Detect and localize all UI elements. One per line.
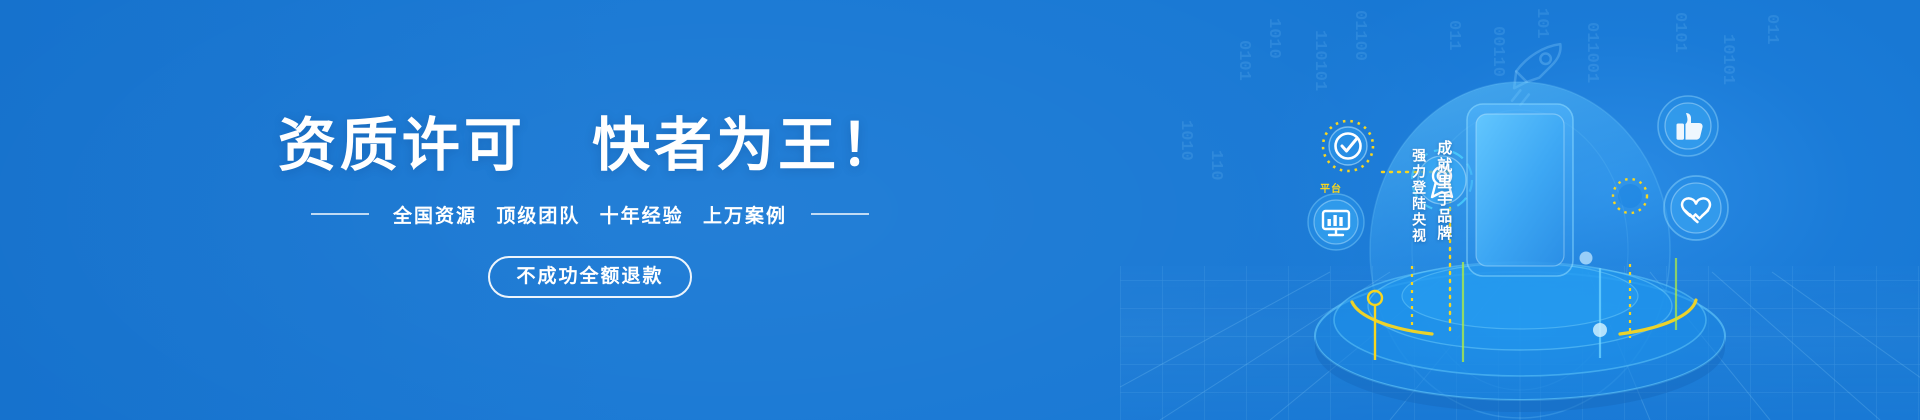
rule-left	[311, 213, 369, 215]
svg-text:10101: 10101	[1718, 34, 1737, 85]
svg-text:0101: 0101	[1670, 12, 1689, 53]
headline: 资质许可 快者为王！	[278, 117, 902, 175]
stage-platform	[1308, 260, 1732, 412]
svg-text:011: 011	[1762, 14, 1781, 45]
floating-dot	[1580, 252, 1593, 265]
svg-text:00110: 00110	[1488, 26, 1507, 77]
phone-device	[1467, 104, 1573, 276]
headline-part-1: 资质许可	[278, 113, 526, 178]
phone-caption-right: 成就里手品牌	[1434, 140, 1452, 242]
rule-right	[811, 213, 869, 215]
platform-chip-label: 平台	[1320, 180, 1342, 195]
subtitle-row: 全国资源 顶级团队 十年经验 上万案例	[311, 201, 869, 228]
hero-illustration: 0101 1010 110101 01100 011 00110 101 011…	[1120, 0, 1920, 420]
handshake-heart-icon	[1664, 176, 1728, 240]
svg-text:110: 110	[1206, 150, 1225, 181]
refund-guarantee-button[interactable]: 不成功全额退款	[488, 256, 691, 298]
subtitle-item-2: 十年经验	[600, 206, 684, 227]
monitor-chart-icon	[1308, 194, 1364, 250]
check-circle-icon	[1323, 121, 1373, 171]
headline-part-2: 快者为王！	[592, 113, 902, 178]
promo-banner: 0101 1010 110101 01100 011 00110 101 011…	[0, 0, 1920, 420]
phone-caption-left: 强力登陆央视	[1410, 148, 1427, 244]
subtitle-item-1: 顶级团队	[496, 206, 580, 227]
svg-text:110101: 110101	[1310, 30, 1329, 91]
copy-block: 资质许可 快者为王！ 全国资源 顶级团队 十年经验 上万案例 不成功全额退款	[0, 0, 1180, 420]
thumbs-up-icon	[1658, 96, 1718, 156]
svg-text:0101: 0101	[1234, 40, 1253, 81]
subtitle: 全国资源 顶级团队 十年经验 上万案例	[387, 201, 793, 228]
subtitle-item-3: 上万案例	[703, 206, 787, 227]
svg-text:011001: 011001	[1582, 22, 1601, 83]
svg-text:101: 101	[1532, 8, 1551, 39]
svg-text:011: 011	[1444, 20, 1463, 51]
subtitle-item-0: 全国资源	[393, 206, 477, 227]
svg-text:1010: 1010	[1264, 18, 1283, 59]
svg-text:01100: 01100	[1350, 10, 1369, 61]
